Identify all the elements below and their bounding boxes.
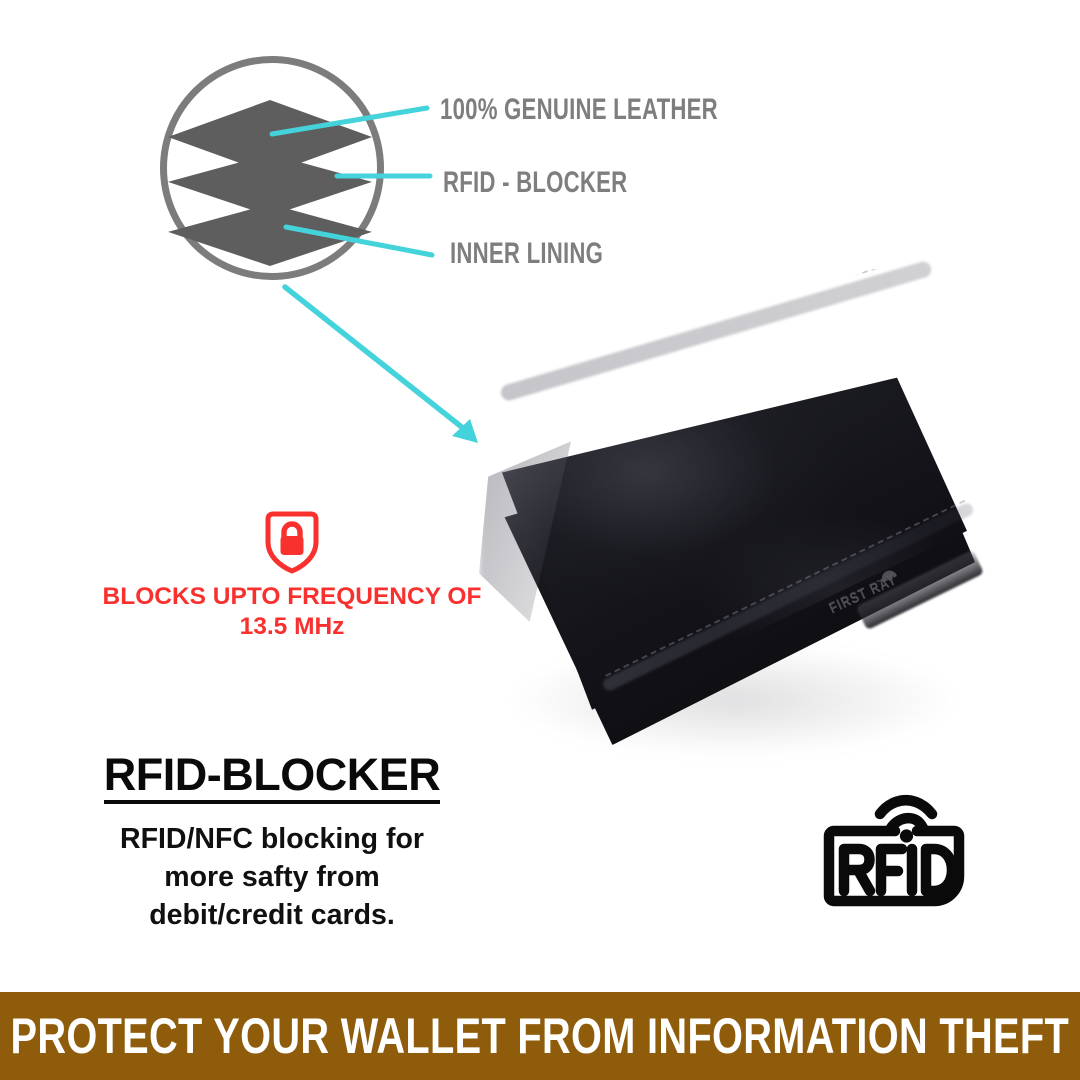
rfid-signal-badge-icon	[818, 792, 988, 910]
signal-arc-inner	[891, 818, 923, 828]
badge-letter-f	[881, 849, 902, 891]
frequency-text: BLOCKS UPTO FREQUENCY OF 13.5 MHz	[96, 582, 488, 643]
black-leather-bifold-wallet: FIRST RAY	[455, 345, 1000, 795]
stacked-layers-circle-icon	[160, 56, 384, 280]
badge-letter-r	[844, 849, 870, 891]
shield-lock-icon	[263, 510, 321, 574]
badge-letter-d	[926, 849, 952, 891]
frequency-callout: BLOCKS UPTO FREQUENCY OF 13.5 MHz	[96, 510, 488, 643]
headline-body-line-3: debit/credit cards.	[149, 899, 395, 931]
callout-label-genuine-leather: 100% GENUINE LEATHER	[440, 93, 718, 127]
signal-arc-outer	[880, 800, 932, 814]
page-title: RFID-BLOCKER	[104, 752, 440, 804]
infographic-canvas: 100% GENUINE LEATHER RFID - BLOCKER INNE…	[0, 0, 1080, 1080]
headline-body-line-1: RFID/NFC blocking for	[120, 823, 424, 855]
callout-label-inner-lining: INNER LINING	[450, 237, 603, 271]
banner-text: PROTECT YOUR WALLET FROM INFORMATION THE…	[11, 1007, 1070, 1065]
bottom-banner: PROTECT YOUR WALLET FROM INFORMATION THE…	[0, 992, 1080, 1080]
pointer-arrow-shaft	[285, 287, 468, 432]
frequency-line-2: 13.5 MHz	[240, 613, 345, 640]
frequency-line-1: BLOCKS UPTO FREQUENCY OF	[103, 583, 482, 610]
headline-body-line-2: more safty from	[164, 861, 379, 893]
callout-label-rfid-blocker: RFID - BLOCKER	[443, 166, 627, 200]
signal-dot	[900, 829, 913, 842]
headline-description: RFID/NFC blocking for more safty from de…	[72, 821, 472, 935]
headline-block: RFID-BLOCKER RFID/NFC blocking for more …	[72, 752, 472, 935]
